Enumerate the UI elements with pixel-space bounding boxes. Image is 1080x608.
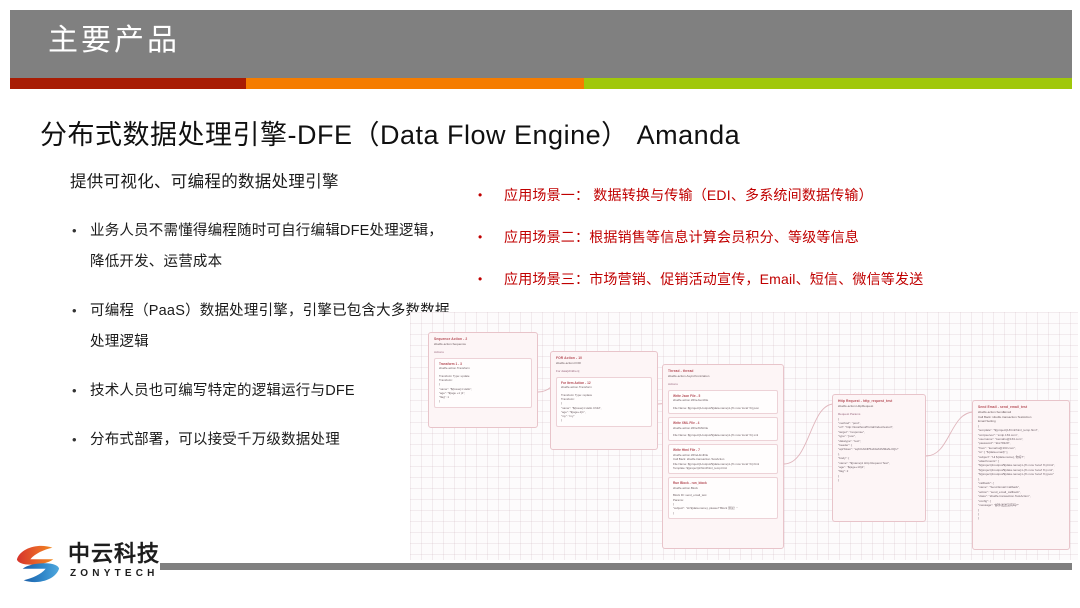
diagram-node-sequence-action[interactable]: Sequence Action - 2 idiudfe.action.Seque… (428, 332, 538, 428)
footer-divider (160, 563, 1072, 570)
node-subcard[interactable]: Write XML File - 4 idiudfe.action.WriteX… (668, 417, 778, 441)
list-item: • 应用场景二：根据销售等信息计算会员积分、等级等信息 (478, 228, 1078, 247)
page-title: 主要产品 (48, 22, 180, 60)
flow-diagram-screenshot: Sequence Action - 2 idiudfe.action.Seque… (410, 312, 1078, 560)
left-content-column: 提供可视化、可编程的数据处理引擎 • 业务人员不需懂得编程随时可自行编辑DFE处… (70, 170, 450, 474)
node-subtitle: idiudfe.action.HttpRequest (838, 404, 920, 409)
diagram-node-http-request[interactable]: Http Request - http_request_test idiudfe… (832, 394, 926, 522)
use-case-list: • 应用场景一： 数据转换与传输（EDI、多系统间数据传输） • 应用场景二：根… (478, 186, 1078, 312)
node-input-port[interactable] (972, 407, 973, 410)
use-case-label: 应用场景二：根据销售等信息计算会员积分、等级等信息 (504, 228, 1078, 247)
node-subtitle: idiudfe.action.Sequence (434, 342, 532, 347)
list-item: • 分布式部署，可以接受千万级数据处理 (70, 425, 450, 456)
bullet-marker-icon: • (478, 270, 504, 289)
list-item-label: 业务人员不需懂得编程随时可自行编辑DFE处理逻辑，降低开发、运营成本 (90, 216, 450, 278)
stripe-red (10, 78, 246, 89)
node-input-port[interactable] (832, 401, 833, 404)
bullet-marker-icon: • (70, 216, 90, 278)
node-input-port[interactable] (550, 358, 551, 361)
subcard-line: } (673, 511, 773, 515)
node-subcard[interactable]: Run Block - run_block idiudfe.action.Blo… (668, 477, 778, 519)
node-code-line: "${project}1/output/${data.name}1-{% now… (978, 472, 1064, 476)
node-subcard[interactable]: Write Json File - 5 idiudfe.action.Write… (668, 390, 778, 414)
subcard-line: File Name: ${project}1/output/${data.nam… (673, 406, 773, 410)
node-section-label: Actions (668, 382, 778, 387)
list-item-label: 技术人员也可编写特定的逻辑运行与DFE (90, 376, 450, 407)
bullet-marker-icon: • (70, 425, 90, 456)
logo-text-en: ZONYTECH (70, 568, 159, 580)
use-case-label: 应用场景三：市场营销、促销活动宣传，Email、短信、微信等发送 (504, 270, 1078, 289)
list-item-label: 可编程（PaaS）数据处理引擎，引擎已包含大多数数据处理逻辑 (90, 296, 450, 358)
node-subtitle: idiudfe.action.FOR (556, 361, 652, 366)
node-code-line: } (838, 478, 920, 482)
node-subcard[interactable]: Transform 1 - 3 idiudfe.action.Transform… (434, 358, 532, 408)
zonytech-swoosh-icon (14, 542, 62, 586)
node-section-label: Actions (434, 350, 532, 355)
bullet-marker-icon: • (478, 228, 504, 247)
logo-text-cn: 中云科技 (68, 541, 160, 567)
company-logo: 中云科技 ZONYTECH (14, 538, 194, 594)
subcard-line: } (561, 418, 647, 422)
node-subtitle: idiudfe.action.Asynchronization (668, 374, 778, 379)
subcard-line: File Name: ${project}1/output/${data.nam… (673, 433, 773, 437)
subcard-line: } (439, 399, 527, 403)
slide: 主要产品 分布式数据处理引擎-DFE（Data Flow Engine） Ama… (0, 0, 1080, 608)
list-item: • 应用场景一： 数据转换与传输（EDI、多系统间数据传输） (478, 186, 1078, 205)
node-subcard[interactable]: Write Html File - 7 idiudfe.action.Write… (668, 444, 778, 474)
node-code-line: } (978, 516, 1064, 520)
use-case-label: 应用场景一： 数据转换与传输（EDI、多系统间数据传输） (504, 186, 1078, 205)
bullet-marker-icon: • (70, 376, 90, 407)
bullet-marker-icon: • (478, 186, 504, 205)
diagram-node-thread[interactable]: Thread - thread idiudfe.action.Asynchron… (662, 364, 784, 549)
list-item: • 可编程（PaaS）数据处理引擎，引擎已包含大多数数据处理逻辑 (70, 296, 450, 358)
diagram-node-send-email[interactable]: Send Email - send_email_test idiudfe.act… (972, 400, 1070, 550)
list-item: • 应用场景三：市场营销、促销活动宣传，Email、短信、微信等发送 (478, 270, 1078, 289)
lead-statement: 提供可视化、可编程的数据处理引擎 (70, 170, 450, 194)
bullet-marker-icon: • (70, 296, 90, 358)
node-subcard[interactable]: For Item Action - 12 idiudfe.action.Tran… (556, 377, 652, 427)
list-item: • 业务人员不需懂得编程随时可自行编辑DFE处理逻辑，降低开发、运营成本 (70, 216, 450, 278)
stripe-orange (246, 78, 584, 89)
diagram-node-for-action[interactable]: FOR Action - 10 idiudfe.action.FOR For d… (550, 351, 658, 450)
node-input-port[interactable] (662, 371, 663, 374)
node-input-port[interactable] (428, 339, 429, 342)
subcard-line: Template: ${project}1/html/html_temp.htm… (673, 466, 773, 470)
list-item-label: 分布式部署，可以接受千万级数据处理 (90, 425, 450, 456)
list-item: • 技术人员也可编写特定的逻辑运行与DFE (70, 376, 450, 407)
section-heading: 分布式数据处理引擎-DFE（Data Flow Engine） Amanda (40, 113, 740, 152)
node-section-label: For data[children] (556, 369, 652, 374)
stripe-green (584, 78, 1072, 89)
